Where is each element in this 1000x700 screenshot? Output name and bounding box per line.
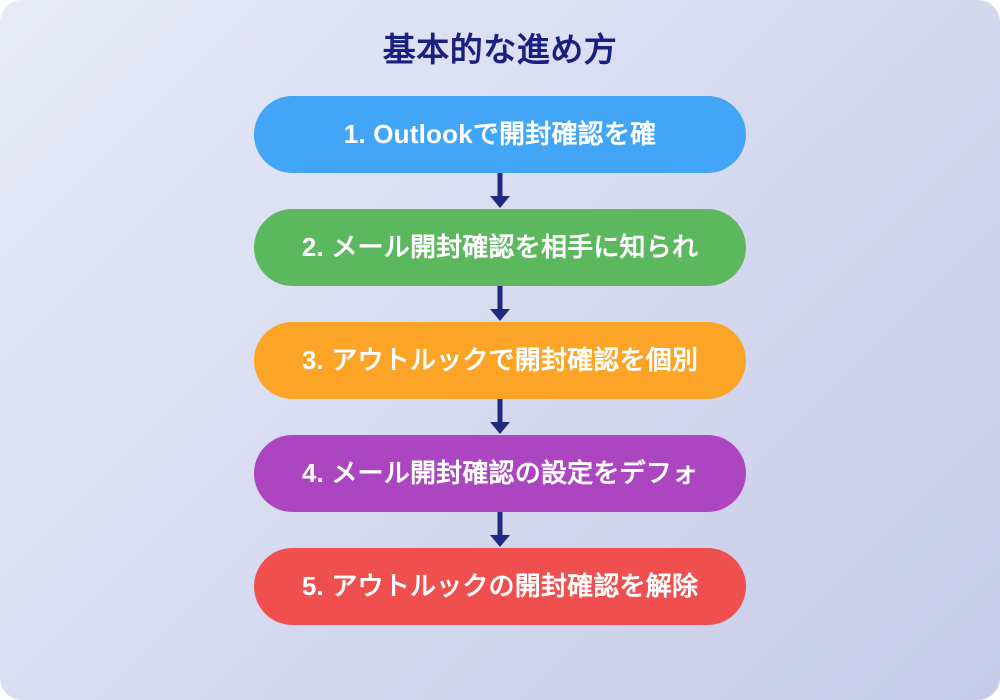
flowchart-canvas: 基本的な進め方 1. Outlookで開封確認を確 2. メール開封確認を相手に… — [0, 0, 1000, 700]
flow-step-2-label: 2. メール開封確認を相手に知られ — [302, 232, 698, 263]
flow-step-list: 1. Outlookで開封確認を確 2. メール開封確認を相手に知られ 3. ア… — [254, 96, 746, 625]
flow-step-5[interactable]: 5. アウトルックの開封確認を解除 — [254, 548, 746, 625]
flow-step-4[interactable]: 4. メール開封確認の設定をデフォ — [254, 435, 746, 512]
flow-step-3-label: 3. アウトルックで開封確認を個別 — [302, 345, 698, 376]
arrow-down-icon — [488, 173, 512, 209]
arrow-down-icon — [488, 512, 512, 548]
page-title: 基本的な進め方 — [383, 30, 618, 70]
arrow-down-icon — [488, 399, 512, 435]
flow-step-1-label: 1. Outlookで開封確認を確 — [344, 119, 657, 150]
flow-step-2[interactable]: 2. メール開封確認を相手に知られ — [254, 209, 746, 286]
arrow-down-icon — [488, 286, 512, 322]
flow-step-3[interactable]: 3. アウトルックで開封確認を個別 — [254, 322, 746, 399]
flow-step-5-label: 5. アウトルックの開封確認を解除 — [302, 571, 698, 602]
flow-step-4-label: 4. メール開封確認の設定をデフォ — [302, 458, 698, 489]
flow-step-1[interactable]: 1. Outlookで開封確認を確 — [254, 96, 746, 173]
